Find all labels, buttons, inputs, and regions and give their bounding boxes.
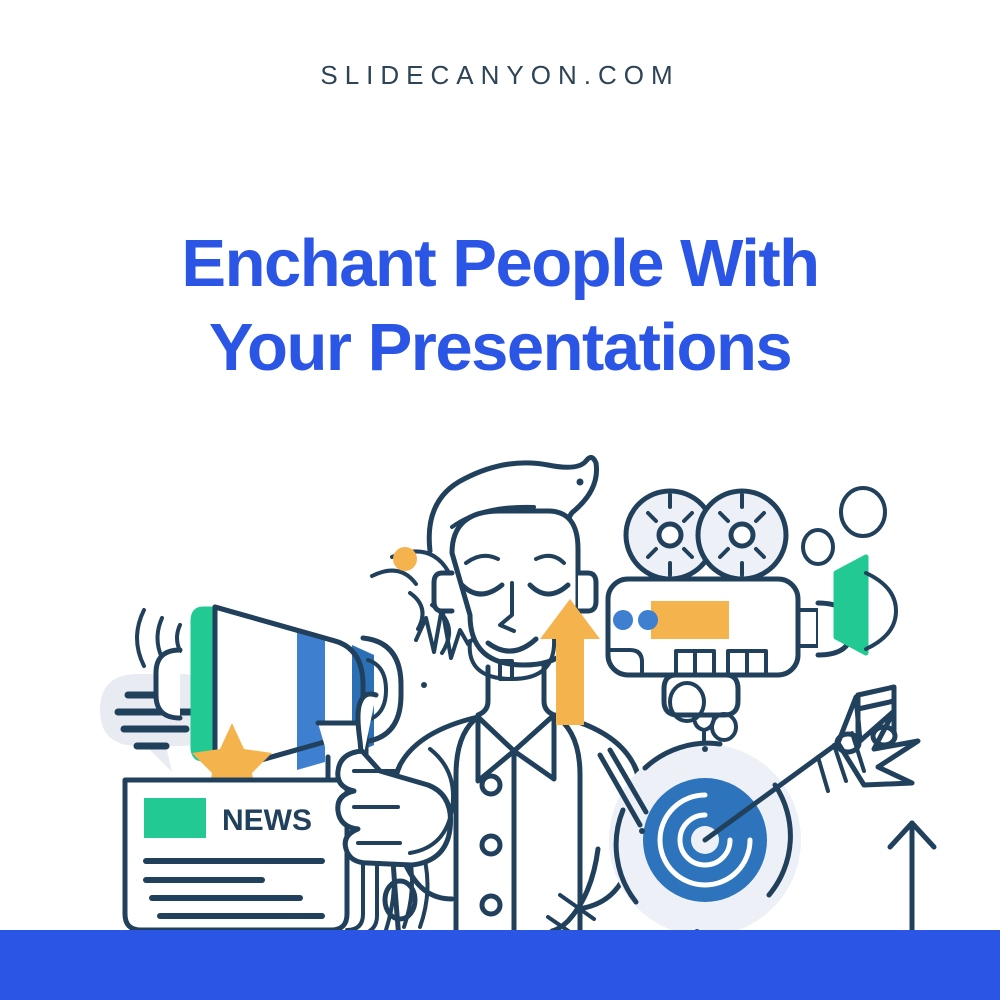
site-brand-text: SLIDECANYON.COM (0, 60, 1000, 91)
bottom-accent-bar (0, 930, 1000, 1000)
poster-canvas: SLIDECANYON.COM Enchant People With Your… (0, 0, 1000, 1000)
news-card-label: NEWS (222, 804, 312, 837)
page-title-line-1: Enchant People With (0, 222, 1000, 306)
page-title: Enchant People With Your Presentations (0, 222, 1000, 390)
shirt-button (482, 896, 500, 914)
projector-display (651, 601, 729, 639)
orange-dot (393, 547, 417, 571)
news-card-thumbnail (144, 798, 206, 838)
outline-up-arrow-icon (890, 823, 934, 945)
page-title-line-2: Your Presentations (0, 306, 1000, 390)
hero-illustration: NEWS (0, 455, 1000, 945)
shirt-button (482, 836, 500, 854)
illustration-svg: NEWS (0, 455, 1000, 945)
shirt-button (482, 776, 500, 794)
